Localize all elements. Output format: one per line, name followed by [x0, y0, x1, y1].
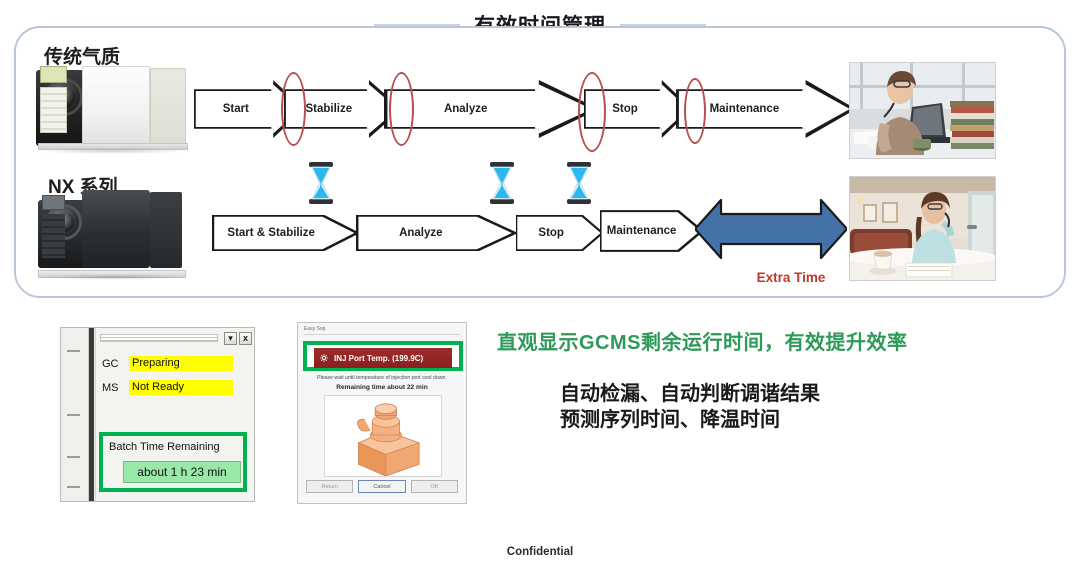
extra-time-arrow: [695, 198, 847, 260]
stressed-woman-at-desk-photo: [849, 62, 996, 159]
batch-time-title: Batch Time Remaining: [109, 441, 220, 453]
black-callout-line-1: 自动检漏、自动判断调谐结果: [560, 381, 980, 407]
dialog-ok-button[interactable]: OK: [411, 480, 458, 493]
dialog-top-divider: [304, 334, 460, 335]
red-ellipse-icon: [281, 72, 306, 146]
nx-step-stop-label: Stop: [516, 227, 586, 240]
nx-step-start-stabilize-label: Start & Stabilize: [212, 227, 330, 240]
dialog-banner-highlight-frame: INJ Port Temp. (199.9C): [303, 341, 463, 371]
red-ellipse-icon: [389, 72, 414, 146]
gear-icon: [320, 354, 328, 362]
batch-time-value: about 1 h 23 min: [123, 461, 241, 483]
relaxed-woman-in-cafe-photo: [849, 176, 996, 281]
status-row-ms-value: Not Ready: [129, 380, 233, 395]
status-window-screenshot: ▾ x GC Preparing MS Not Ready Batch Time…: [60, 327, 255, 502]
dropdown-button[interactable]: ▾: [224, 332, 237, 345]
dialog-cancel-button[interactable]: Cancel: [358, 480, 405, 493]
legacy-step-start-label: Start: [194, 103, 278, 116]
hourglass-icon: [489, 162, 515, 204]
hourglass-icon: [566, 162, 592, 204]
status-window-divider: [89, 328, 94, 501]
legacy-gcms-instrument: [36, 62, 190, 150]
dialog-note: Please wait until temperature of injecti…: [306, 375, 458, 381]
status-row-gc: GC Preparing: [102, 356, 233, 371]
status-window-titlebar: ▾ x: [98, 331, 252, 346]
status-row-ms: MS Not Ready: [102, 380, 233, 395]
dialog-caption: Easy Sop: [304, 326, 325, 332]
slide-footer: Confidential: [0, 546, 1080, 558]
hourglass-icon: [308, 162, 334, 204]
status-row-gc-key: GC: [102, 358, 124, 370]
nx-gcms-instrument: [38, 190, 188, 276]
dialog-button-row: Return Cancel OK: [306, 480, 458, 493]
close-icon[interactable]: x: [239, 332, 252, 345]
slide-canvas: 有效时间管理 传统气质 Start Stabilize Analyze Stop…: [0, 0, 1080, 573]
inj-port-dialog-screenshot: Easy Sop INJ Port Temp. (199.9C) Please …: [297, 322, 467, 504]
status-row-gc-value: Preparing: [129, 356, 233, 371]
nx-step-maintenance-label: Maintenance: [600, 225, 683, 238]
titlebar-grip: [100, 334, 218, 342]
extra-time-label: Extra Time: [726, 270, 856, 285]
injection-port-3d-illustration: [324, 395, 442, 477]
green-callout-text: 直观显示GCMS剩余运行时间，有效提升效率: [497, 326, 1017, 355]
dialog-banner: INJ Port Temp. (199.9C): [314, 348, 452, 368]
dialog-banner-label: INJ Port Temp. (199.9C): [334, 354, 423, 363]
status-row-ms-key: MS: [102, 382, 124, 394]
status-window-sidebar: [61, 328, 89, 501]
black-callout-line-2: 预测序列时间、降温时间: [560, 407, 980, 433]
dialog-return-button[interactable]: Return: [306, 480, 353, 493]
batch-time-highlight-frame: Batch Time Remaining about 1 h 23 min: [99, 432, 247, 492]
nx-step-analyze-label: Analyze: [356, 227, 486, 240]
dialog-remaining-time: Remaining time about 22 min: [306, 384, 458, 391]
red-ellipse-icon: [684, 78, 706, 144]
black-callout-text: 自动检漏、自动判断调谐结果 预测序列时间、降温时间: [560, 381, 980, 434]
red-ellipse-icon: [578, 72, 606, 152]
